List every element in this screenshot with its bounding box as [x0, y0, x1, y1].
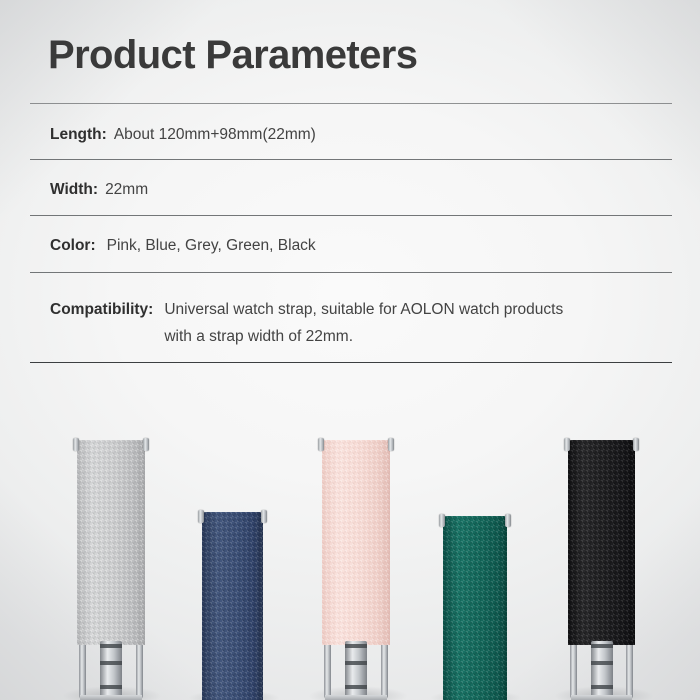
green-strap-lug-right-icon	[505, 514, 511, 527]
black-strap-weave-texture	[568, 440, 635, 645]
clasp-arm-right	[136, 645, 143, 699]
grey-strap-lug-left-icon	[73, 438, 79, 451]
clasp-bar-bottom	[345, 685, 367, 689]
divider-bottom	[30, 362, 672, 363]
blue-strap-band	[202, 512, 263, 700]
spec-row-length: Length: About 120mm+98mm(22mm)	[50, 121, 316, 148]
page-title: Product Parameters	[48, 33, 417, 78]
spec-label-width: Width:	[50, 176, 98, 203]
clasp-bar-top	[345, 644, 367, 648]
clasp-bar-middle	[591, 661, 613, 665]
pink-strap-band	[322, 440, 390, 645]
spec-value-width: 22mm	[105, 176, 148, 203]
green-strap-weave-texture	[443, 516, 507, 700]
divider-after-length	[30, 159, 672, 160]
clasp-crossbar	[80, 695, 142, 700]
pink-strap-weave-texture	[322, 440, 390, 645]
blue-strap-lug-right-icon	[261, 510, 267, 523]
black-strap-lug-left-icon	[564, 438, 570, 451]
clasp-arm-left	[324, 645, 331, 699]
spec-value-compatibility: Universal watch strap, suitable for AOLO…	[164, 296, 594, 350]
green-strap-lug-left-icon	[439, 514, 445, 527]
clasp-bar-top	[591, 644, 613, 648]
clasp-bar-bottom	[100, 685, 122, 689]
clasp-arm-left	[79, 645, 86, 699]
grey-strap-band	[77, 440, 145, 645]
clasp-tongue	[100, 641, 122, 697]
clasp-bar-top	[100, 644, 122, 648]
grey-strap-clasp[interactable]	[77, 645, 145, 700]
pink-strap[interactable]	[322, 440, 390, 645]
blue-strap-weave-texture	[202, 512, 263, 700]
pink-strap-lug-left-icon	[318, 438, 324, 451]
divider-after-color	[30, 272, 672, 273]
black-strap-lug-right-icon	[633, 438, 639, 451]
grey-strap-weave-texture	[77, 440, 145, 645]
green-strap-band	[443, 516, 507, 700]
green-strap[interactable]	[443, 516, 507, 700]
divider-after-width	[30, 215, 672, 216]
blue-strap[interactable]	[202, 512, 263, 700]
spec-label-color: Color:	[50, 232, 96, 259]
spec-row-compatibility: Compatibility: Universal watch strap, su…	[50, 296, 594, 350]
blue-strap-lug-left-icon	[198, 510, 204, 523]
divider-top	[30, 103, 672, 104]
spec-row-width: Width: 22mm	[50, 176, 148, 203]
clasp-bar-bottom	[591, 685, 613, 689]
grey-strap[interactable]	[77, 440, 145, 645]
clasp-arm-right	[626, 645, 633, 699]
clasp-bar-middle	[100, 661, 122, 665]
grey-strap-lug-right-icon	[143, 438, 149, 451]
product-parameters-image: Product Parameters Length: About 120mm+9…	[0, 0, 700, 700]
black-strap-band	[568, 440, 635, 645]
pink-strap-lug-right-icon	[388, 438, 394, 451]
clasp-arm-left	[570, 645, 577, 699]
spec-value-color: Pink, Blue, Grey, Green, Black	[107, 232, 316, 259]
spec-value-length: About 120mm+98mm(22mm)	[114, 121, 316, 148]
clasp-crossbar	[571, 695, 632, 700]
black-strap-clasp[interactable]	[568, 645, 635, 700]
clasp-bar-middle	[345, 661, 367, 665]
clasp-tongue	[345, 641, 367, 697]
pink-strap-clasp[interactable]	[322, 645, 390, 700]
black-strap[interactable]	[568, 440, 635, 645]
spec-label-length: Length:	[50, 121, 107, 148]
clasp-arm-right	[381, 645, 388, 699]
spec-row-color: Color: Pink, Blue, Grey, Green, Black	[50, 232, 316, 259]
clasp-tongue	[591, 641, 613, 697]
spec-label-compatibility: Compatibility:	[50, 296, 153, 323]
clasp-crossbar	[325, 695, 387, 700]
